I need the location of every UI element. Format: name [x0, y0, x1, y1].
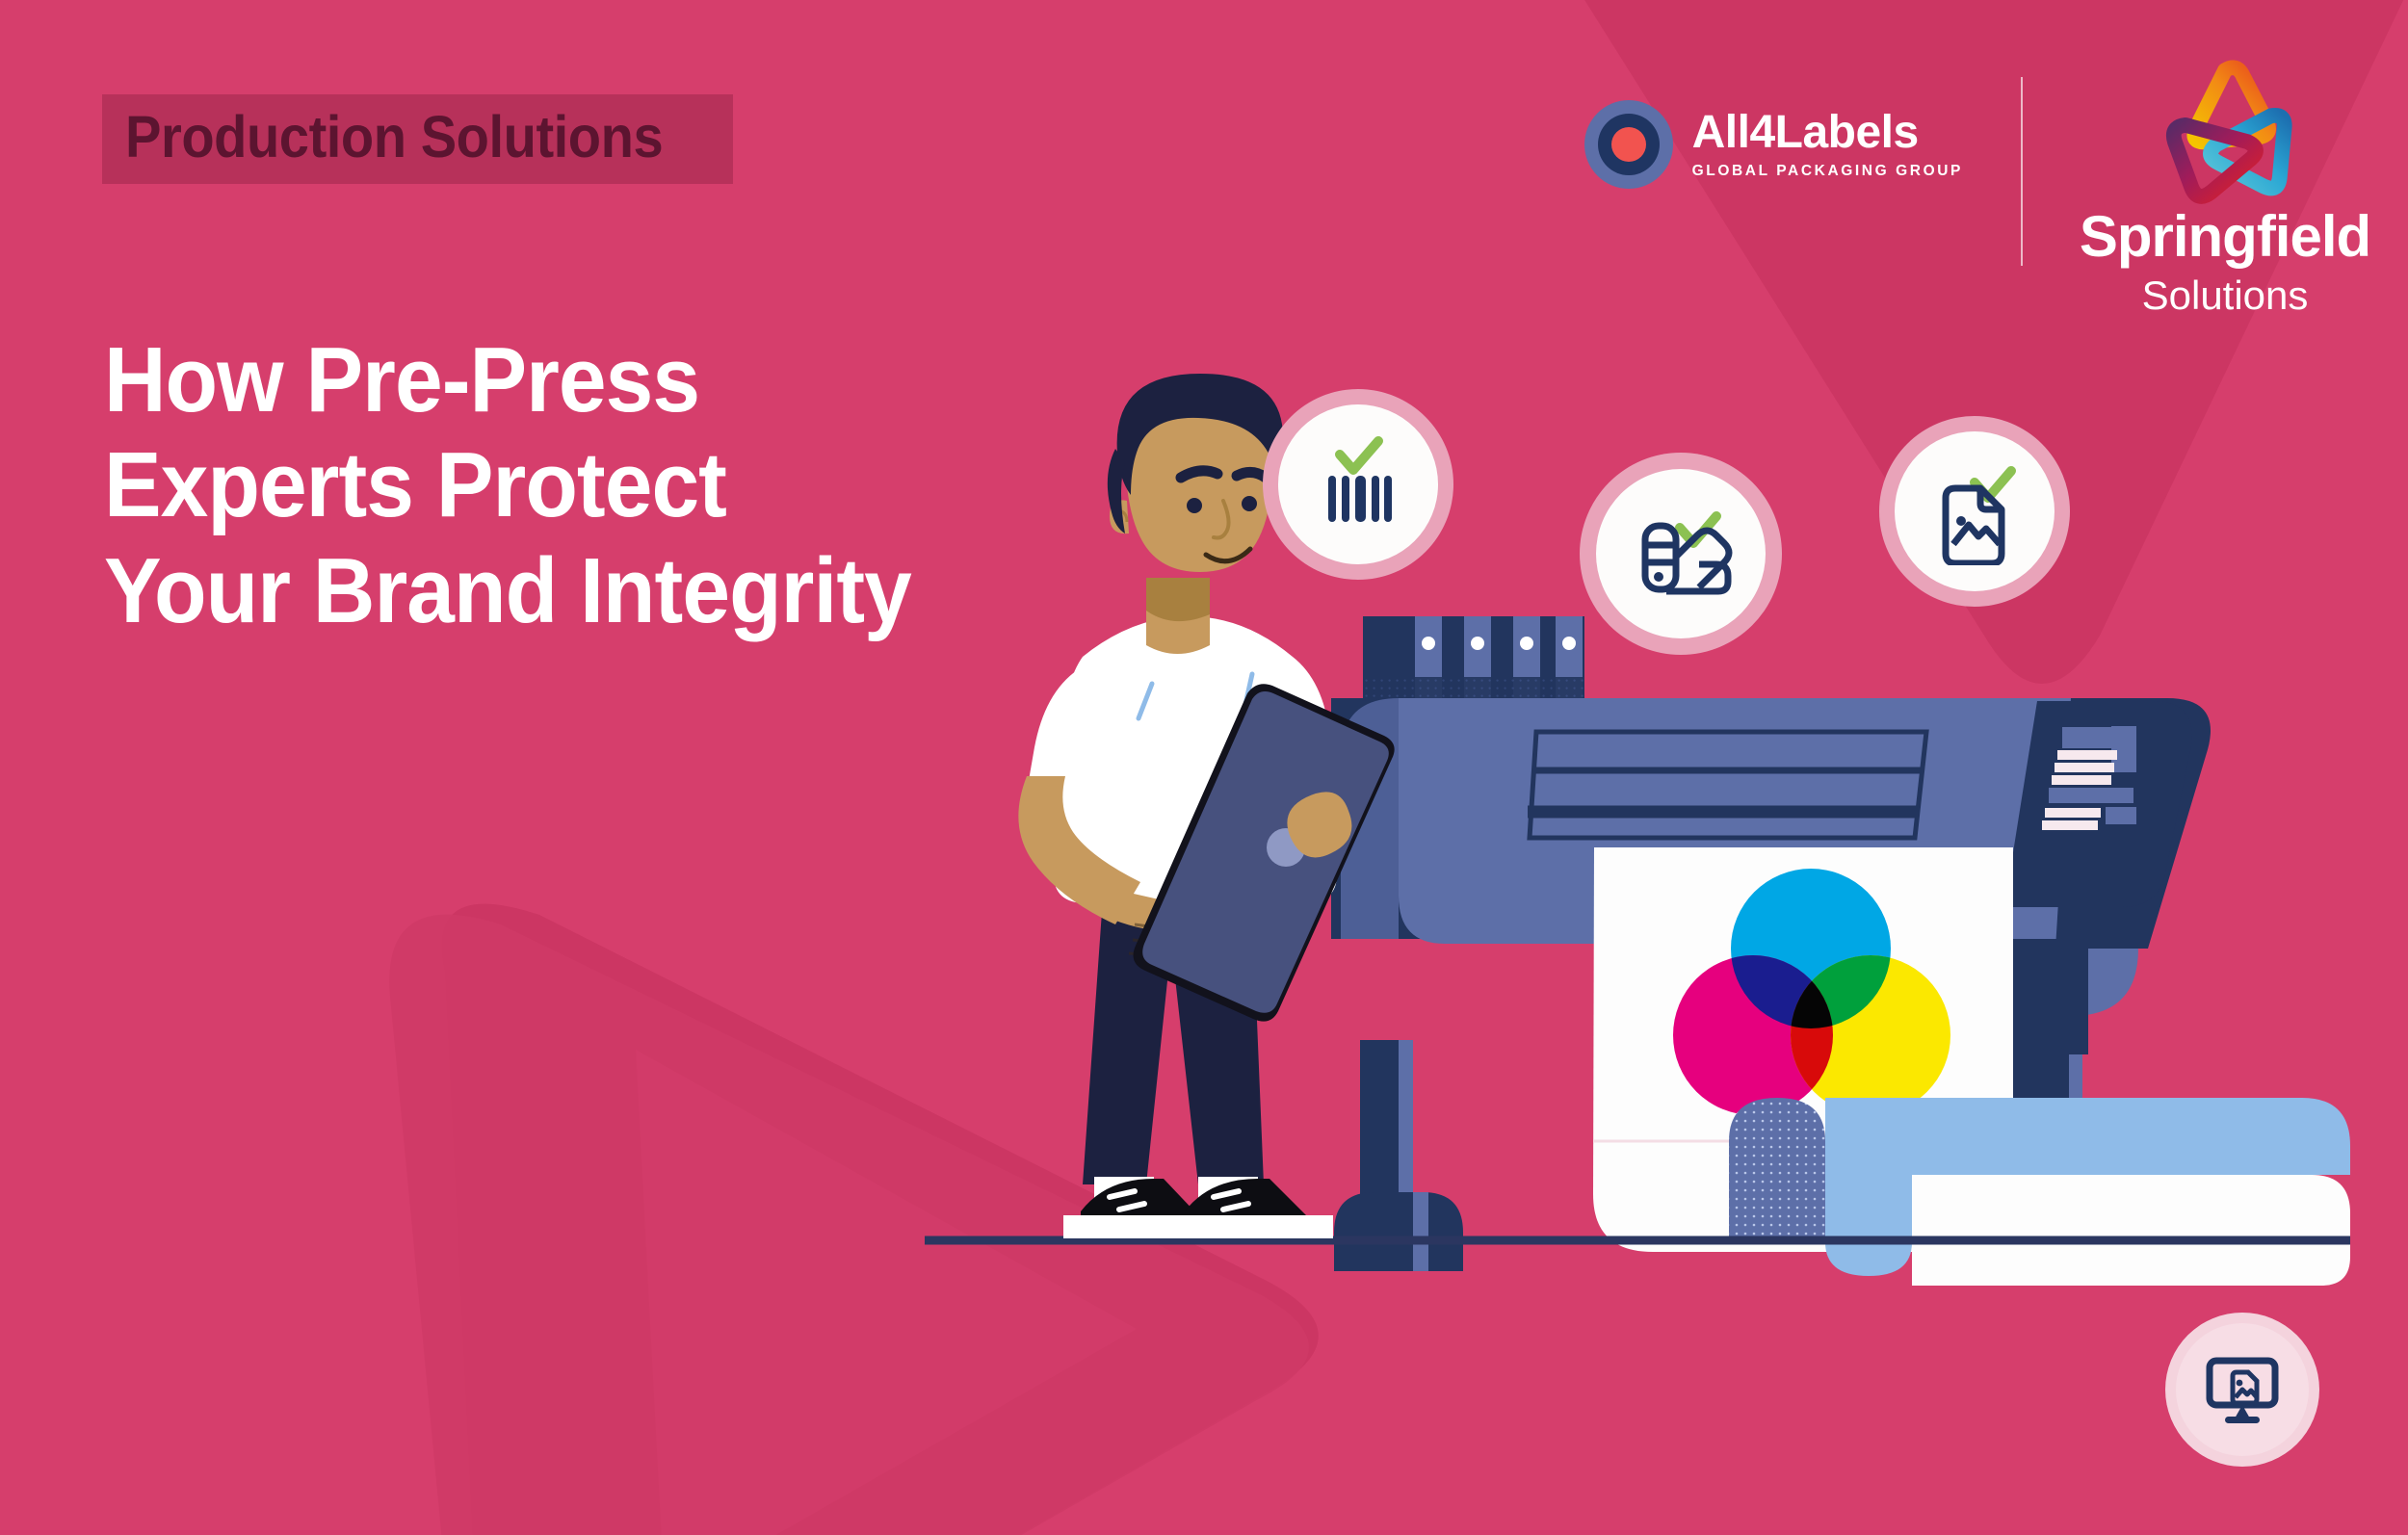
three-triangles-swirl-icon	[2148, 60, 2302, 204]
color-swatch-fan-icon	[1624, 497, 1738, 611]
headline-line-1: How Pre-Press	[104, 327, 911, 432]
barcode-icon	[1305, 431, 1411, 537]
concentric-circles-icon	[1584, 100, 1673, 189]
printer-cartridges	[1363, 616, 1584, 698]
page-title: How Pre-Press Experts Protect Your Brand…	[104, 327, 911, 643]
all4labels-name: All4Labels	[1692, 110, 1963, 156]
image-file-icon	[1921, 457, 2028, 565]
springfield-subtitle: Solutions	[2142, 275, 2309, 316]
printer-control-panel	[2004, 701, 2192, 907]
eyebrow-banner: Production Solutions	[102, 94, 733, 184]
all4labels-tagline: GLOBAL PACKAGING GROUP	[1692, 163, 1963, 180]
logo-lockup: All4Labels GLOBAL PACKAGING GROUP	[1584, 60, 2369, 316]
headline-line-3: Your Brand Integrity	[104, 538, 911, 643]
headline-line-2: Experts Protect	[104, 432, 911, 537]
image-file-check-badge	[1879, 416, 2070, 607]
logo-divider	[2021, 77, 2023, 266]
barcode-check-badge	[1263, 389, 1453, 580]
printer-output-tray	[1729, 1098, 2350, 1286]
monitor-image-icon	[2198, 1345, 2287, 1434]
check-icon	[1340, 441, 1378, 470]
poster-canvas: Production Solutions How Pre-Press Exper…	[0, 0, 2408, 1535]
all4labels-logo: All4Labels GLOBAL PACKAGING GROUP	[1584, 60, 1963, 189]
springfield-name: Springfield	[2080, 208, 2370, 266]
eyebrow-label: Production Solutions	[125, 108, 663, 167]
monitor-preview-badge	[2165, 1313, 2319, 1467]
springfield-logo: Springfield Solutions	[2081, 60, 2369, 316]
color-swatch-check-badge	[1580, 453, 1782, 655]
